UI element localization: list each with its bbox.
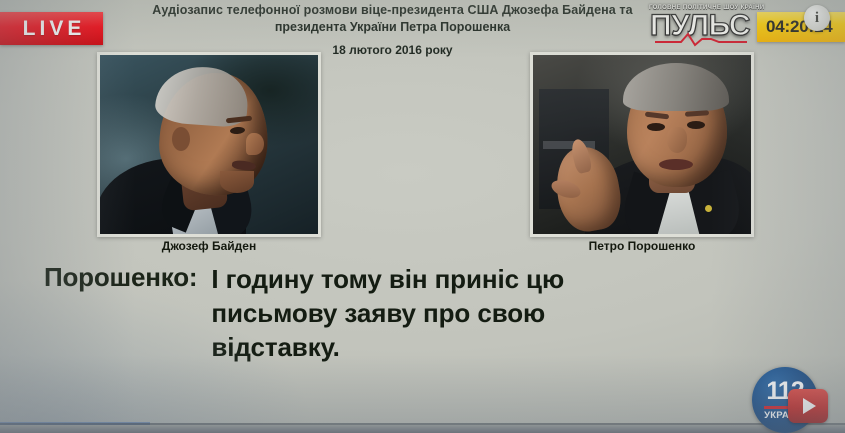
bottom-strip [0,425,845,433]
caption-biden: Джозеф Байден [97,239,321,253]
poroshenko-eye-right [687,121,705,129]
photo-poroshenko [530,52,754,237]
play-triangle-icon [803,398,816,414]
photo-biden [97,52,321,237]
headline-line-1: Аудіозапис телефонної розмови віце-прези… [120,2,665,18]
quote-speaker-label: Порошенко: [44,262,211,292]
broadcast-slide: Аудіозапис телефонної розмови віце-прези… [0,0,845,433]
live-badge: LIVE [0,12,103,45]
play-button-icon[interactable] [788,389,828,423]
live-badge-label: LIVE [18,17,86,41]
poroshenko-eye-left [647,123,665,131]
photo-biden-image [100,55,318,234]
countdown-timer: 04:20:14 [757,12,845,42]
biden-nose [246,133,264,155]
channel-logo-112-ukraine: 112 УКРАЇНА [752,367,832,433]
quote-block: Порошенко: І годину тому він приніс цю п… [44,262,734,364]
poroshenko-lapel-pin [705,205,712,212]
poroshenko-mouth [659,159,693,170]
biden-ear [172,127,190,151]
quote-text: І годину тому він приніс цю письмову зая… [211,262,661,364]
info-icon-glyph: i [815,11,819,26]
heartbeat-icon [655,31,747,47]
poroshenko-nose [667,127,687,153]
show-logo-pulse: ГОЛОВНЕ ПОЛІТИЧНЕ ШОУ КРАЇНИ ПУЛЬС [641,1,759,45]
biden-chin [220,171,254,193]
caption-poroshenko: Петро Порошенко [530,239,754,253]
photo-poroshenko-image [533,55,751,234]
info-icon[interactable]: i [804,5,830,31]
headline-line-2: президента України Петра Порошенка [120,19,665,35]
slide-headline: Аудіозапис телефонної розмови віце-прези… [120,2,665,57]
